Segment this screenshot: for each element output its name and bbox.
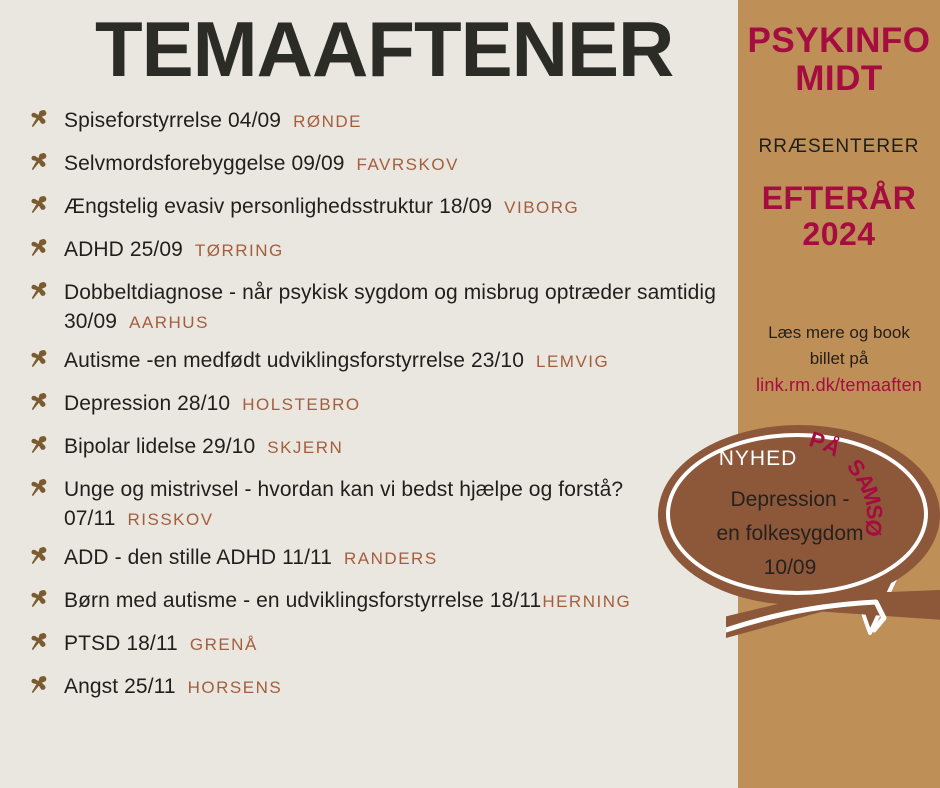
branch-highlight: [726, 596, 940, 642]
booking-line-2: billet på: [744, 346, 934, 372]
booking-link[interactable]: link.rm.dk/temaaften: [738, 375, 940, 396]
list-item[interactable]: Angst 25/11HORSENS: [22, 672, 742, 706]
brand-title: PSYKINFO MIDT: [738, 22, 940, 98]
pushpin-icon: [25, 194, 51, 220]
event-city: VIBORG: [504, 198, 579, 217]
event-city: HORSENS: [188, 678, 283, 697]
event-city: SKJERN: [267, 438, 343, 457]
season-title: EFTERÅR 2024: [738, 180, 940, 252]
pushpin-icon: [25, 391, 51, 417]
season-year: 2024: [738, 216, 940, 252]
pushpin-icon: [25, 434, 51, 460]
pushpin-icon: [25, 545, 51, 571]
event-text: Dobbeltdiagnose - når psykisk sygdom og …: [64, 278, 742, 337]
event-text: ADHD 25/09TØRRING: [64, 235, 742, 265]
event-city: HOLSTEBRO: [242, 395, 360, 414]
event-city: HERNING: [542, 592, 631, 611]
event-city: TØRRING: [195, 241, 284, 260]
list-item[interactable]: Autisme -en medfødt udviklingsforstyrrel…: [22, 346, 742, 380]
list-item[interactable]: ADHD 25/09TØRRING: [22, 235, 742, 269]
event-text: PTSD 18/11GRENÅ: [64, 629, 742, 659]
pushpin-icon: [25, 477, 51, 503]
event-city: AARHUS: [129, 313, 209, 332]
list-item[interactable]: Ængstelig evasiv personlighedsstruktur 1…: [22, 192, 742, 226]
list-item[interactable]: Dobbeltdiagnose - når psykisk sygdom og …: [22, 278, 742, 337]
booking-line-1: Læs mere og book: [744, 320, 934, 346]
bubble-line-2: en folkesygdom: [666, 517, 914, 551]
event-text: Autisme -en medfødt udviklingsforstyrrel…: [64, 346, 742, 376]
event-city: RANDERS: [344, 549, 438, 568]
list-item[interactable]: PTSD 18/11GRENÅ: [22, 629, 742, 663]
page-title: TEMAAFTENER: [95, 6, 673, 92]
poster: TEMAAFTENER Spiseforstyrrelse 04/09RØNDE…: [0, 0, 940, 788]
list-item[interactable]: Bipolar lidelse 29/10SKJERN: [22, 432, 742, 466]
news-badge: NYHED: [658, 447, 858, 471]
pushpin-icon: [25, 237, 51, 263]
season-label: EFTERÅR: [738, 180, 940, 216]
event-city: FAVRSKOV: [357, 155, 459, 174]
event-text: Depression 28/10HOLSTEBRO: [64, 389, 742, 419]
pushpin-icon: [25, 674, 51, 700]
list-item[interactable]: Depression 28/10HOLSTEBRO: [22, 389, 742, 423]
bubble-text: Depression - en folkesygdom 10/09: [666, 483, 914, 585]
booking-note: Læs mere og book billet på: [744, 320, 934, 372]
pushpin-icon: [25, 348, 51, 374]
brand-line-2: MIDT: [738, 60, 940, 98]
event-text: Ængstelig evasiv personlighedsstruktur 1…: [64, 192, 742, 222]
bubble-line-1: Depression -: [666, 483, 914, 517]
list-item[interactable]: Selvmordsforebyggelse 09/09FAVRSKOV: [22, 149, 742, 183]
pushpin-icon: [25, 108, 51, 134]
event-text: Unge og mistrivsel - hvordan kan vi beds…: [64, 475, 742, 534]
event-city: LEMVIG: [536, 352, 609, 371]
list-item[interactable]: Unge og mistrivsel - hvordan kan vi beds…: [22, 475, 742, 534]
pushpin-icon: [25, 631, 51, 657]
event-text: Bipolar lidelse 29/10SKJERN: [64, 432, 742, 462]
list-item[interactable]: ADD - den stille ADHD 11/11RANDERS: [22, 543, 742, 577]
event-list: Spiseforstyrrelse 04/09RØNDE Selvmordsfo…: [22, 106, 742, 715]
event-city: RØNDE: [293, 112, 362, 131]
event-text: Spiseforstyrrelse 04/09RØNDE: [64, 106, 742, 136]
event-text: Børn med autisme - en udviklingsforstyrr…: [64, 586, 742, 616]
event-text: ADD - den stille ADHD 11/11RANDERS: [64, 543, 742, 573]
event-city: RISSKOV: [128, 510, 214, 529]
brand-line-1: PSYKINFO: [738, 22, 940, 60]
pushpin-icon: [25, 280, 51, 306]
event-text: Selvmordsforebyggelse 09/09FAVRSKOV: [64, 149, 742, 179]
event-text: Angst 25/11HORSENS: [64, 672, 742, 702]
sidebar: PSYKINFO MIDT RRÆSENTERER EFTERÅR 2024 L…: [738, 0, 940, 788]
pushpin-icon: [25, 151, 51, 177]
presents-label: RRÆSENTERER: [738, 136, 940, 158]
event-city: GRENÅ: [190, 635, 258, 654]
list-item[interactable]: Børn med autisme - en udviklingsforstyrr…: [22, 586, 742, 620]
bubble-line-3: 10/09: [666, 551, 914, 585]
pushpin-icon: [25, 588, 51, 614]
list-item[interactable]: Spiseforstyrrelse 04/09RØNDE: [22, 106, 742, 140]
